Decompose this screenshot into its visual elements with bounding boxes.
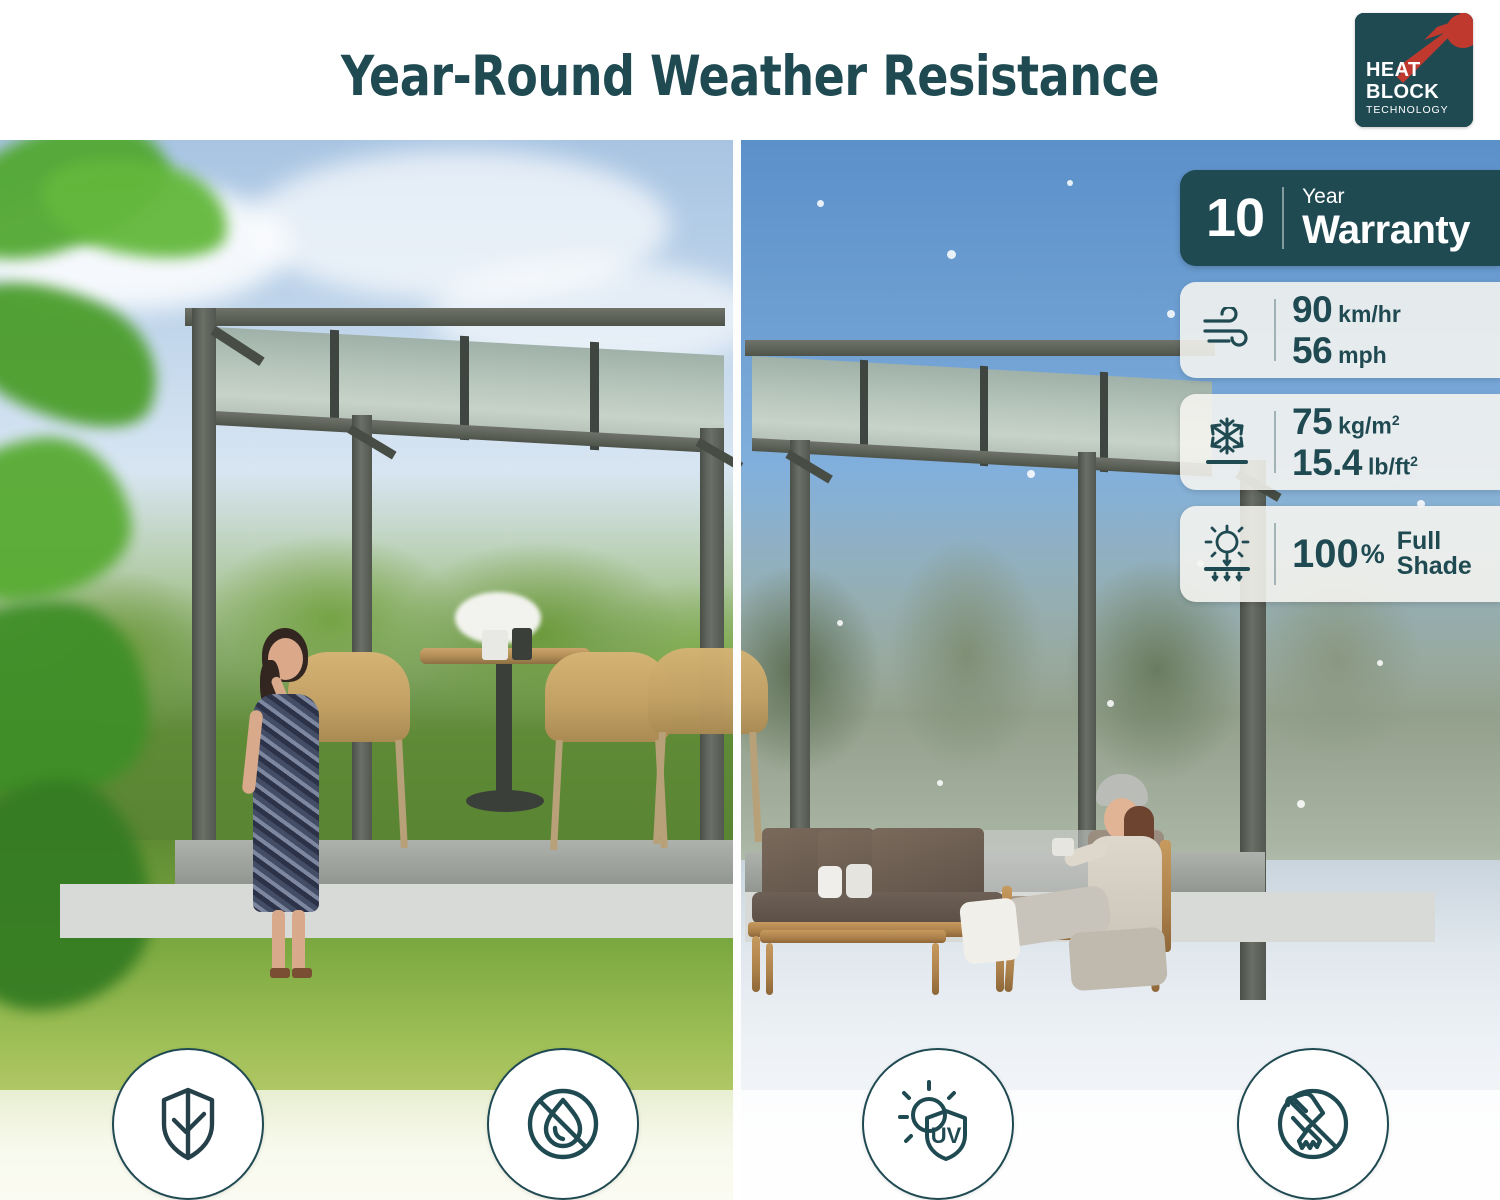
warranty-years: 10 (1206, 191, 1264, 245)
logo-wordmark: HEAT BLOCK TECHNOLOGY (1366, 60, 1449, 116)
feature-maintenance-free: Maintenance- free material (1125, 1090, 1500, 1200)
no-water-drop-icon (487, 1048, 639, 1200)
badge-divider (1274, 523, 1276, 585)
snow-value-imperial: 15.4 (1292, 444, 1362, 481)
badge-shade: 100 % Full Shade (1180, 506, 1500, 602)
feature-leak-proof: Leak-proof roofing system (375, 1090, 750, 1200)
shade-value: 100 (1292, 532, 1359, 577)
snow-sup-metric: 2 (1392, 412, 1400, 428)
feature-uv-resistant: UV UV-resistant polycarbonate panels (750, 1090, 1125, 1200)
badge-divider (1274, 411, 1276, 473)
svg-text:UV: UV (930, 1123, 961, 1148)
logo-line-2: BLOCK (1366, 82, 1449, 102)
feature-durable-frame: Durable, rust-resistant aluminum frame (0, 1090, 375, 1200)
snow-unit-imperial: lb/ft (1368, 454, 1410, 480)
wind-icon (1196, 307, 1258, 353)
warranty-label-big: Warranty (1302, 210, 1470, 250)
snow-sup-imperial: 2 (1410, 453, 1418, 469)
snowflake-icon (1196, 414, 1258, 470)
spec-badge-list: 10 Year Warranty 9 (1180, 170, 1500, 618)
no-paintbrush-icon (1237, 1048, 1389, 1200)
heat-block-logo: HEAT BLOCK TECHNOLOGY (1355, 13, 1473, 127)
wind-value-kmh: 90 (1292, 291, 1332, 328)
badge-divider (1282, 187, 1284, 249)
page-title: Year-Round Weather Resistance (53, 44, 1448, 108)
shade-label-line1: Full (1397, 529, 1472, 555)
logo-line-1: HEAT (1366, 60, 1449, 80)
wind-unit-mph: mph (1338, 344, 1387, 367)
shade-percent-sign: % (1361, 539, 1385, 570)
logo-line-3: TECHNOLOGY (1366, 105, 1449, 116)
scene-divider (733, 140, 741, 1200)
scene-area: 10 Year Warranty 9 (0, 140, 1500, 1200)
badge-snow-load: 75 kg/m2 15.4 lb/ft2 (1180, 394, 1500, 490)
badge-divider (1274, 299, 1276, 361)
warranty-label-small: Year (1302, 186, 1470, 207)
shade-label-line2: Shade (1397, 554, 1472, 580)
sun-shade-icon (1196, 524, 1258, 584)
infographic-page: 10 Year Warranty 9 (0, 0, 1500, 1200)
wind-unit-kmh: km/hr (1338, 303, 1401, 326)
badge-warranty: 10 Year Warranty (1180, 170, 1500, 266)
wind-value-mph: 56 (1292, 332, 1332, 369)
shield-check-icon (112, 1048, 264, 1200)
badge-wind: 90 km/hr 56 mph (1180, 282, 1500, 378)
feature-list: Durable, rust-resistant aluminum frame L… (0, 1090, 1500, 1200)
header-bar: Year-Round Weather Resistance (0, 0, 1500, 140)
uv-shield-icon: UV (862, 1048, 1014, 1200)
snow-unit-metric: kg/m (1338, 413, 1392, 439)
snow-value-metric: 75 (1292, 403, 1332, 440)
